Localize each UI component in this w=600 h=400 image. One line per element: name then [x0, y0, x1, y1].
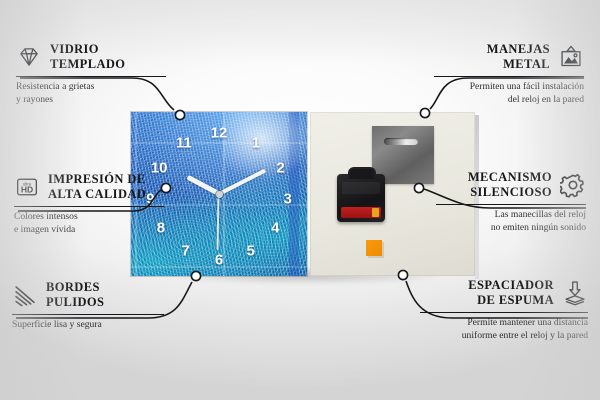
clock-mechanism-box [337, 174, 385, 222]
callout-title: VIDRIO TEMPLADO [50, 42, 125, 72]
ultra-hd-icon: ultra HD [14, 174, 40, 200]
callout-rule [14, 206, 164, 207]
callout-espaciador-espuma[interactable]: ESPACIADOR DE ESPUMA Permite mantener un… [420, 278, 588, 343]
callout-subtitle-line1: Superficie lisa y segura [12, 319, 162, 332]
callout-title-line2: PULIDOS [46, 295, 104, 310]
callout-subtitle: Permite mantener una distancia uniforme … [420, 317, 588, 343]
callout-header: ultra HD IMPRESIÓN DE ALTA CALIDAD [14, 172, 164, 202]
callout-subtitle-line1: Colores intensos [14, 211, 164, 224]
clock-number-3: 3 [283, 191, 291, 206]
callout-vidrio-templado[interactable]: VIDRIO TEMPLADO Resistencia a grietas y … [16, 42, 166, 107]
clock-number-1: 1 [252, 136, 260, 151]
callout-subtitle-line2: no emiten ningún sonido [436, 222, 586, 235]
callout-title-line2: ALTA CALIDAD [48, 187, 146, 202]
callout-header: MANEJAS METAL [434, 42, 584, 72]
callout-header: VIDRIO TEMPLADO [16, 42, 166, 72]
clock-number-6: 6 [215, 252, 223, 267]
callout-impresion-alta-calidad[interactable]: ultra HD IMPRESIÓN DE ALTA CALIDAD Color… [14, 172, 164, 237]
mechanism-hook [348, 167, 376, 179]
callout-title: BORDES PULIDOS [46, 280, 104, 310]
callout-rule [434, 76, 584, 77]
callout-title-line1: MECANISMO [468, 170, 552, 185]
callout-title: ESPACIADOR DE ESPUMA [468, 278, 554, 308]
callout-subtitle-line1: Resistencia a grietas [16, 81, 166, 94]
hanger-slot [384, 138, 418, 145]
callout-manejas-metal[interactable]: MANEJAS METAL Permiten una fácil instala… [434, 42, 584, 107]
clock-number-4: 4 [271, 221, 279, 236]
battery [341, 207, 381, 218]
callout-title-line2: TEMPLADO [50, 57, 125, 72]
clock-pivot [216, 191, 223, 198]
ultra-hd-icon-main: HD [21, 184, 33, 194]
clock-number-11: 11 [176, 136, 192, 151]
mechanism-ridge [342, 182, 380, 194]
callout-title-line2: DE ESPUMA [468, 293, 554, 308]
product-infographic: 12 1 2 3 4 5 6 7 8 9 10 11 [0, 0, 600, 400]
callout-bordes-pulidos[interactable]: BORDES PULIDOS Superficie lisa y segura [12, 280, 162, 332]
clock-number-5: 5 [247, 244, 255, 259]
callout-mecanismo-silencioso[interactable]: MECANISMO SILENCIOSO Las manecillas del … [436, 170, 586, 235]
diamond-icon [16, 44, 42, 70]
callout-title-line1: MANEJAS [487, 42, 550, 57]
callout-subtitle: Colores intensos e imagen vívida [14, 211, 164, 237]
callout-title-line2: METAL [487, 57, 550, 72]
callout-title-line1: IMPRESIÓN DE [48, 172, 146, 187]
callout-title: IMPRESIÓN DE ALTA CALIDAD [48, 172, 146, 202]
callout-subtitle-line2: del reloj en la pared [434, 94, 584, 107]
callout-header: MECANISMO SILENCIOSO [436, 170, 586, 200]
clock-number-2: 2 [276, 160, 284, 175]
callout-header: BORDES PULIDOS [12, 280, 162, 310]
callout-title-line1: VIDRIO [50, 42, 125, 57]
callout-header: ESPACIADOR DE ESPUMA [420, 278, 588, 308]
callout-subtitle: Resistencia a grietas y rayones [16, 81, 166, 107]
callout-subtitle-line1: Permite mantener una distancia [420, 317, 588, 330]
callout-subtitle-line2: e imagen vívida [14, 224, 164, 237]
callout-subtitle-line1: Permiten una fácil instalación [434, 81, 584, 94]
callout-subtitle-line2: uniforme entre el reloj y la pared [420, 330, 588, 343]
callout-subtitle: Permiten una fácil instalación del reloj… [434, 81, 584, 107]
clock-number-7: 7 [181, 244, 189, 259]
picture-frame-hanger-icon [558, 44, 584, 70]
callout-subtitle: Las manecillas del reloj no emiten ningú… [436, 209, 586, 235]
clock-number-12: 12 [211, 126, 228, 141]
callout-title-line1: BORDES [46, 280, 104, 295]
callout-subtitle-line2: y rayones [16, 94, 166, 107]
callout-rule [420, 312, 588, 313]
callout-title-line2: SILENCIOSO [468, 185, 552, 200]
callout-title: MECANISMO SILENCIOSO [468, 170, 552, 200]
callout-rule [436, 204, 586, 205]
callout-subtitle-line1: Las manecillas del reloj [436, 209, 586, 222]
product-image: 12 1 2 3 4 5 6 7 8 9 10 11 [131, 112, 475, 276]
diagonal-lines-icon [12, 282, 38, 308]
down-arrow-layers-icon [562, 280, 588, 306]
callout-title: MANEJAS METAL [487, 42, 550, 72]
foam-spacer [366, 240, 382, 256]
callout-rule [16, 76, 166, 77]
callout-rule [12, 314, 164, 315]
gear-icon [560, 172, 586, 198]
callout-subtitle: Superficie lisa y segura [12, 319, 162, 332]
callout-title-line1: ESPACIADOR [468, 278, 554, 293]
